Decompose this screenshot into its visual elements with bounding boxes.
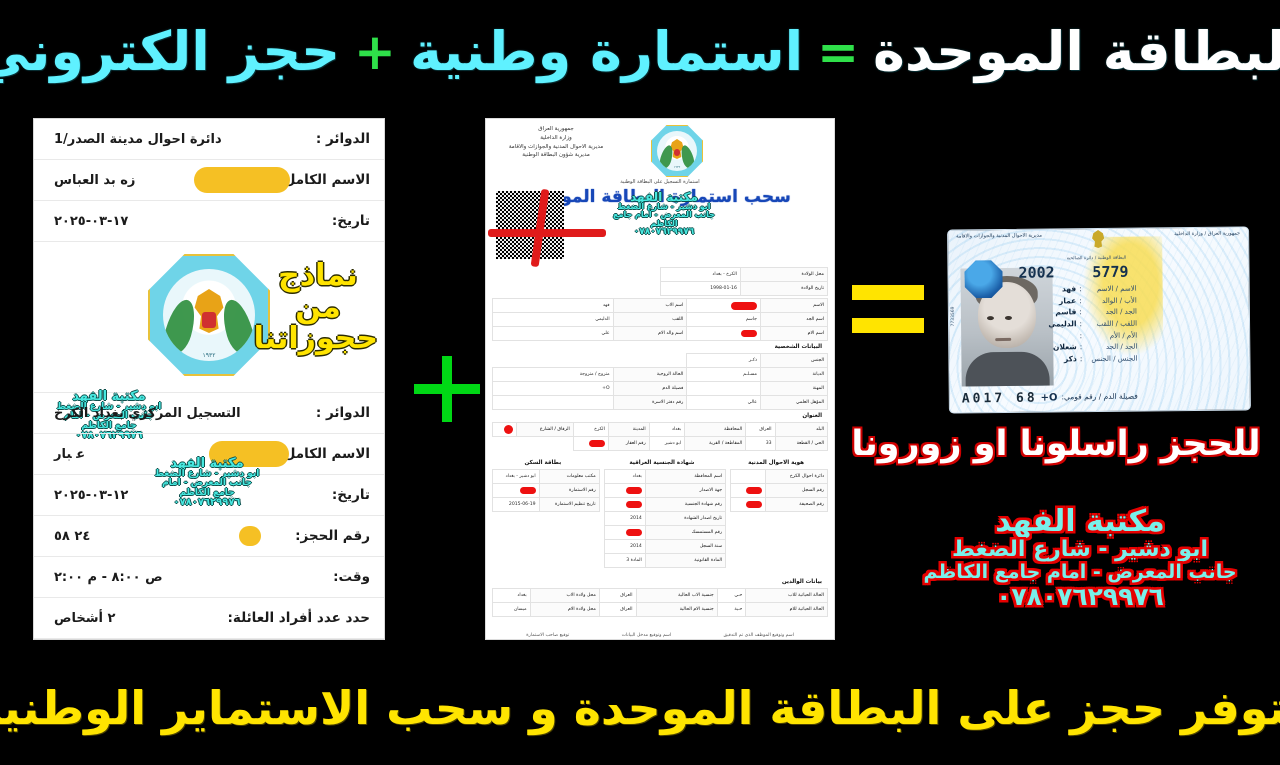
cell-key: محل الولادة <box>740 268 827 282</box>
card-fields: الاسم / الاسم :فهد الأب / الوالد :عمار ا… <box>961 283 1138 366</box>
cell-key: الزقاق / الشارع <box>517 423 573 437</box>
table-row: رقم المستمسك <box>604 526 725 540</box>
row-value: ٢ أشخاص <box>48 611 115 626</box>
card-serial-prefix: A017 <box>962 391 1005 406</box>
promo-shop-block: مكتبة الفهد ابو دشير - شارع الضغط جانب ا… <box>890 505 1270 611</box>
redaction-blob <box>520 487 536 494</box>
promo-cta: للحجز راسلونا او زورونا <box>840 424 1272 464</box>
cell-value: 2014 <box>604 512 645 526</box>
headline: البطاقة الموحدة = استمارة وطنية + حجز ال… <box>0 2 1280 102</box>
redaction-blob <box>504 425 513 434</box>
form-header: ١٩٣٢ جمهورية العراق وزارة الداخلية مديري… <box>486 119 834 177</box>
promo-shop-address2: جانب المعرض - امام جامع الكاظم <box>890 562 1270 583</box>
row-label: الدوائر : <box>316 405 370 421</box>
card-field-key: الأب / الوالد <box>1085 295 1137 306</box>
cell-value <box>687 382 761 396</box>
table-row: محل الولادة الكرخ - بغداد <box>493 268 828 282</box>
cell-key: الحالة الحياتية للاب <box>746 589 828 603</box>
card-field-value: عمار <box>1059 295 1076 307</box>
cell-value: 2014 <box>604 540 645 554</box>
table-row: رقم الحجز: ٢٤ ٥٨ <box>34 516 384 557</box>
cell-value <box>731 498 766 512</box>
cell-key: جهة الاصدار <box>645 484 725 498</box>
cell-value <box>604 484 645 498</box>
card-blood-label: فصيلة الدم / رقم قومي: <box>1061 392 1137 404</box>
redaction-blob <box>626 529 642 536</box>
cell-value: 33 <box>746 437 775 451</box>
row-label: تاريخ: <box>332 487 370 503</box>
card-field: الاسم / الاسم :فهد <box>961 283 1137 296</box>
footer-signature-2: اسم وتوقيع مدخل البيانات <box>622 633 672 638</box>
cell-key: البلد <box>775 423 827 437</box>
cell-value <box>687 299 761 313</box>
ministry-line3: مديرية الاحوال المدنية والجوازات والاقام… <box>496 143 616 152</box>
cell-key: رقم شهادة الجنسية <box>645 498 725 512</box>
table-row: الديانة مسـلـم الحالة الزوجية متزوج / مت… <box>493 368 828 382</box>
redaction-blob <box>194 167 290 193</box>
table-row: المؤهل العلمي عالي رقم دفتر الاسرة <box>493 396 828 410</box>
card-field-key: الاسم / الاسم <box>1085 284 1137 295</box>
card-field: الجد / الجد :شعلان <box>961 341 1137 354</box>
ministry-block: جمهورية العراق وزارة الداخلية مديرية الا… <box>496 125 616 177</box>
watermark-line2: حجوزاتنا <box>258 323 378 355</box>
cell-value: العراق <box>599 603 636 617</box>
emblem-year: ١٩٣٢ <box>163 352 255 359</box>
cell-value <box>493 423 517 437</box>
row-value: ص ٨:٠٠ - م ٢:٠٠ <box>48 570 163 585</box>
names-table: الاسم اسم الاب فهد اسم الجد جاسم اللقب ا… <box>492 298 828 341</box>
table-row: حدد عدد أفراد العائلة: ٢ أشخاص <box>34 598 384 639</box>
card-header: جمهورية العراق / وزارة الداخلية مديرية ا… <box>948 228 1248 253</box>
row-label: رقم الحجز: <box>295 528 370 544</box>
cell-key: رقم المستمسك <box>645 526 725 540</box>
card-blood-value: O+ <box>1041 392 1058 403</box>
ministry-line1: جمهورية العراق <box>496 125 616 134</box>
cell-value: علي <box>493 327 614 341</box>
table-row: الدوائر : التسجيل المركزي بغداد الكرخ <box>34 393 384 434</box>
card-header-left: جمهورية العراق / وزارة الداخلية <box>1174 231 1240 239</box>
table-row: الدوائر : دائرة احوال مدينة الصدر/1 <box>34 119 384 160</box>
civil-id-table: دائرة احوال الكرخ رقم السجل رقم الصحيفة <box>730 469 828 512</box>
card-field-key: الأم / الأم <box>1085 330 1137 341</box>
iraq-emblem-icon: ١٩٣٢ <box>148 254 270 376</box>
personal-table: الجنس ذكـر الديانة مسـلـم الحالة الزوجية… <box>492 353 828 410</box>
table-row: مكتب معلومات ابو دشير - بغداد <box>493 470 600 484</box>
card-field: الجد / الجد :قاسم <box>961 306 1137 319</box>
table-row: اسم المحافظة بغداد <box>604 470 725 484</box>
cell-key: رقم دفتر الاسرة <box>613 396 687 410</box>
card-header-right: مديرية الاحوال المدنية والجوازات والاقام… <box>956 233 1042 241</box>
red-cross-mark-icon <box>488 197 608 267</box>
table-row: اسم الام اسم والد الام علي <box>493 327 828 341</box>
footer-signature-3: توقيع صاحب الاستمارة <box>526 633 569 638</box>
row-label: تاريخ: <box>332 213 370 229</box>
card-serial: A017 68 <box>962 391 1038 407</box>
headline-result: البطاقة الموحدة <box>873 25 1280 79</box>
cell-key: الحالة الزوجية <box>613 368 687 382</box>
card-numbers: 2002 5779 <box>1018 263 1128 282</box>
reservation-sheet: الدوائر : دائرة احوال مدينة الصدر/1 الاس… <box>33 118 385 640</box>
poster-canvas: البطاقة الموحدة = استمارة وطنية + حجز ال… <box>0 0 1280 765</box>
cell-key: الجنس <box>761 354 828 368</box>
card-field-value: فهد <box>1062 283 1076 295</box>
cell-value: بغداد <box>604 470 645 484</box>
card-field: اللقب / اللقب :الدليمي <box>961 317 1137 330</box>
cell-value: جاسم <box>687 313 761 327</box>
watermark-samples: نماذج من حجوزاتنا <box>258 260 378 355</box>
watermark-line1: نماذج من <box>258 260 378 323</box>
cell-value: بغداد <box>649 423 684 437</box>
cell-key: المحافظة <box>685 423 746 437</box>
redaction-blob <box>209 441 289 467</box>
card-side-code: 7733569 <box>951 306 956 326</box>
table-row: رقم السجل <box>731 484 828 498</box>
cell-key: اللقب <box>613 313 687 327</box>
cell-key: اسم الجد <box>761 313 828 327</box>
card-field-key: اللقب / اللقب <box>1085 318 1137 329</box>
table-row: الاسم الكامل: زه بد العباس <box>34 160 384 201</box>
cell-key: جنسية الاب الحالية <box>636 589 717 603</box>
iraq-emblem-icon: ١٩٣٢ <box>651 125 703 177</box>
cell-value: الدليمي <box>493 313 614 327</box>
table-row: تاريخ الولادة 1998-01-16 <box>493 282 828 296</box>
card-serial-suffix: 68 <box>1016 391 1038 406</box>
ministry-line4: مديرية شؤون البطاقة الوطنية <box>496 151 616 160</box>
bottom-banner: يتوفر حجز على البطاقة الموحدة و سحب الاس… <box>0 655 1280 760</box>
card-field-key: الجد / الجد <box>1085 342 1137 353</box>
cell-value: الكرخ <box>573 423 608 437</box>
redaction-blob <box>731 302 757 310</box>
cell-value: فهد <box>493 299 614 313</box>
row-value: ع‍ ‍بار <box>48 447 85 462</box>
row-label: الدوائر : <box>316 131 370 147</box>
cell-key: دائرة احوال الكرخ <box>765 470 827 484</box>
row-value: دائرة احوال مدينة الصدر/1 <box>48 132 222 147</box>
cell-key: فصيلة الدم <box>613 382 687 396</box>
row-value: ١٧-٠٣-٢٠٢٥ <box>48 214 128 229</box>
section-title-personal: البيانات الشخصية <box>492 341 828 351</box>
redaction-blob <box>746 501 762 508</box>
national-id-card: جمهورية العراق / وزارة الداخلية مديرية ا… <box>947 226 1251 413</box>
cell-key: الاسم <box>761 299 828 313</box>
cell-key: المقاطعة / القرية <box>685 437 746 451</box>
equals-operator-icon <box>852 285 924 337</box>
table-row: الحي / القطعة 33 المقاطعة / القرية ابو د… <box>493 437 828 451</box>
cell-value: العراق <box>599 589 636 603</box>
table-row: رقم الاستمارة <box>493 484 600 498</box>
form-subtitle: استمارة التسجيل على البطاقة الوطنية <box>486 179 834 185</box>
card-field-key: الجد / الجد <box>1085 307 1137 318</box>
card-field: الجنس / الجنس :ذكر <box>961 352 1137 365</box>
cell-value: ميسان <box>493 603 531 617</box>
parents-table: الحالة الحياتية للاب حـي جنسية الاب الحا… <box>492 588 828 617</box>
footer-signature-1: اسم وتوقيع الموظف الذي تم التدقيق <box>723 633 793 638</box>
cell-key: تاريخ تنظيم الاستمارة <box>539 498 599 512</box>
cell-key: المدينة <box>608 423 649 437</box>
cell-value <box>731 470 766 484</box>
cell-key: المادة القانونية <box>645 554 725 568</box>
table-row: الحالة الحياتية للاب حـي جنسية الاب الحا… <box>493 589 828 603</box>
table-row: الاسم الكامل: ع‍ ‍بار <box>34 434 384 475</box>
cell-key: رقم الصحيفة <box>765 498 827 512</box>
section-title-residence-card: بطاقة السكن <box>492 457 600 467</box>
residence-card-table: مكتب معلومات ابو دشير - بغداد رقم الاستم… <box>492 469 600 512</box>
table-row: الحالة الحياتية للام حـية جنسية الام الح… <box>493 603 828 617</box>
cell-key: رقم الاستمارة <box>539 484 599 498</box>
ministry-line2: وزارة الداخلية <box>496 134 616 143</box>
table-row: جهة الاصدار <box>604 484 725 498</box>
section-title-citizenship: شهادة الجنسية العراقية <box>604 457 726 467</box>
table-row: الاسم اسم الاب فهد <box>493 299 828 313</box>
cell-value: عالي <box>687 396 761 410</box>
cell-value: O+ <box>493 382 614 396</box>
card-field-value: قاسم <box>1055 306 1076 318</box>
cell-value <box>493 484 540 498</box>
citizenship-table: اسم المحافظة بغداد جهة الاصدار رقم شهادة… <box>604 469 726 568</box>
table-row: دائرة احوال الكرخ <box>731 470 828 484</box>
row-value: زه بد العباس <box>48 173 135 188</box>
plus-operator-icon <box>410 352 484 426</box>
table-row: المادة القانونية المادة 3 <box>604 554 725 568</box>
table-row: تاريخ: ١٧-٠٣-٢٠٢٥ <box>34 201 384 242</box>
table-row: اسم الجد جاسم اللقب الدليمي <box>493 313 828 327</box>
cell-key: اسم المحافظة <box>645 470 725 484</box>
unified-card-form: ١٩٣٢ جمهورية العراق وزارة الداخلية مديري… <box>485 118 835 640</box>
cell-value: ابو دشير <box>649 437 684 451</box>
redaction-blob <box>626 487 642 494</box>
shop-address2: جانب المعرض - امام جامع الكاظم <box>604 211 724 227</box>
cell-value <box>731 484 766 498</box>
cell-value: متزوج / متزوجة <box>493 368 614 382</box>
cell-key: مكتب معلومات <box>539 470 599 484</box>
promo-shop-phone: ٠٧٨٠٧٦٢٩٩٧٦ <box>890 583 1270 611</box>
promo-shop-name: مكتبة الفهد <box>890 505 1270 538</box>
redaction-blob <box>626 501 642 508</box>
emblem-band: ١٩٣٢ نماذج من حجوزاتنا مكتبة الفهد ابو د… <box>34 242 384 393</box>
cell-value <box>573 437 608 451</box>
cell-key: سنة السجل <box>645 540 725 554</box>
redaction-blob <box>741 330 757 337</box>
table-row: رقم الصحيفة <box>731 498 828 512</box>
table-row: تاريخ تنظيم الاستمارة 2015-06-19 <box>493 498 600 512</box>
row-label: وقت: <box>333 569 370 585</box>
cell-value: بغداد <box>493 589 531 603</box>
row-value: التسجيل المركزي بغداد الكرخ <box>48 406 241 421</box>
card-number-caption: البطاقة الوطنية / دائرة الصالحية <box>1067 256 1127 262</box>
card-number-right: 5779 <box>1092 263 1128 281</box>
table-row: تاريخ: ١٢-٠٣-٢٠٢٥ <box>34 475 384 516</box>
section-title-civil-id: هوية الاحوال المدنية <box>730 457 828 467</box>
redaction-blob <box>589 440 605 447</box>
identity-table: محل الولادة الكرخ - بغداد تاريخ الولادة … <box>492 267 828 296</box>
cell-key: الحي / القطعة <box>775 437 827 451</box>
card-field-value: ذكر <box>1064 353 1077 365</box>
card-number-left: 2002 <box>1018 263 1054 281</box>
cell-value <box>687 327 761 341</box>
form-footer: اسم وتوقيع الموظف الذي تم التدقيق اسم وت… <box>492 633 828 638</box>
bottom-banner-text: يتوفر حجز على البطاقة الموحدة و سحب الاس… <box>0 681 1280 735</box>
redaction-blob <box>746 487 762 494</box>
section-title-parents: بيانات الوالدين <box>492 576 828 586</box>
cell-value: العراق <box>746 423 775 437</box>
address-table: البلد العراق المحافظة بغداد المدينة الكر… <box>492 422 828 451</box>
cell-key: الديانة <box>761 368 828 382</box>
cell-value <box>604 526 645 540</box>
cell-key: اسم الاب <box>613 299 687 313</box>
cell-key: محل ولادة الام <box>530 603 599 617</box>
cell-key: تاريخ اصدار الشهادة <box>645 512 725 526</box>
headline-equals-sign: = <box>817 27 859 77</box>
card-field-key: الجنس / الجنس <box>1085 353 1137 364</box>
cell-value: مسـلـم <box>687 368 761 382</box>
cell-key: رقم العقار <box>608 437 649 451</box>
cell-key: اسم والد الام <box>613 327 687 341</box>
row-label: الاسم الكامل: <box>278 446 370 462</box>
section-title-address: العنوان <box>492 410 828 420</box>
cell-key: رقم السجل <box>765 484 827 498</box>
cell-key: محل ولادة الاب <box>530 589 599 603</box>
table-row: سنة السجل 2014 <box>604 540 725 554</box>
table-row: تاريخ اصدار الشهادة 2014 <box>604 512 725 526</box>
row-value: ١٢-٠٣-٢٠٢٥ <box>48 488 128 503</box>
shop-phone: ٠٧٨٠٧٦٢٩٩٧٦ <box>604 228 724 237</box>
cell-key: المؤهل العلمي <box>761 396 828 410</box>
cell-value: ابو دشير - بغداد <box>493 470 540 484</box>
headline-plus-sign: + <box>354 27 396 77</box>
row-label: حدد عدد أفراد العائلة: <box>228 610 370 626</box>
cell-key: الحالة الحياتية للام <box>746 603 828 617</box>
promo-shop-address1: ابو دشير - شارع الضغط <box>890 538 1270 562</box>
cell-value: حـية <box>717 603 746 617</box>
cell-value: 2015-06-19 <box>493 498 540 512</box>
card-field: الأم / الأم : <box>961 329 1137 342</box>
redaction-blob <box>239 526 261 546</box>
cell-value: المادة 3 <box>604 554 645 568</box>
table-row: وقت: ص ٨:٠٠ - م ٢:٠٠ <box>34 557 384 598</box>
table-row: البلد العراق المحافظة بغداد المدينة الكر… <box>493 423 828 437</box>
row-value: ٢٤ ٥٨ <box>48 529 90 544</box>
card-field: الأب / الوالد :عمار <box>961 294 1137 307</box>
cell-key: المهنة <box>761 382 828 396</box>
card-field-value: شعلان <box>1053 341 1077 353</box>
card-blood-type: فصيلة الدم / رقم قومي: O+ <box>1041 392 1138 404</box>
cell-value <box>493 396 614 410</box>
cell-value <box>604 498 645 512</box>
promo-cta-text: للحجز راسلونا او زورونا <box>851 424 1260 464</box>
cell-value: حـي <box>717 589 746 603</box>
row-label: الاسم الكامل: <box>278 172 370 188</box>
cell-key: تاريخ الولادة <box>740 282 827 296</box>
table-row: المهنة فصيلة الدم O+ <box>493 382 828 396</box>
cell-key: اسم الام <box>761 327 828 341</box>
cell-value: 1998-01-16 <box>660 282 740 296</box>
headline-part-b: حجز الكتروني <box>0 25 340 79</box>
table-row: رقم شهادة الجنسية <box>604 498 725 512</box>
headline-part-a: استمارة وطنية <box>410 25 803 79</box>
iraq-emblem-icon <box>1090 230 1106 248</box>
card-field-value: الدليمي <box>1048 318 1076 330</box>
table-row: الجنس ذكـر <box>493 354 828 368</box>
cell-key: جنسية الام الحالية <box>636 603 717 617</box>
cell-value: الكرخ - بغداد <box>660 268 740 282</box>
cell-value: ذكـر <box>687 354 761 368</box>
